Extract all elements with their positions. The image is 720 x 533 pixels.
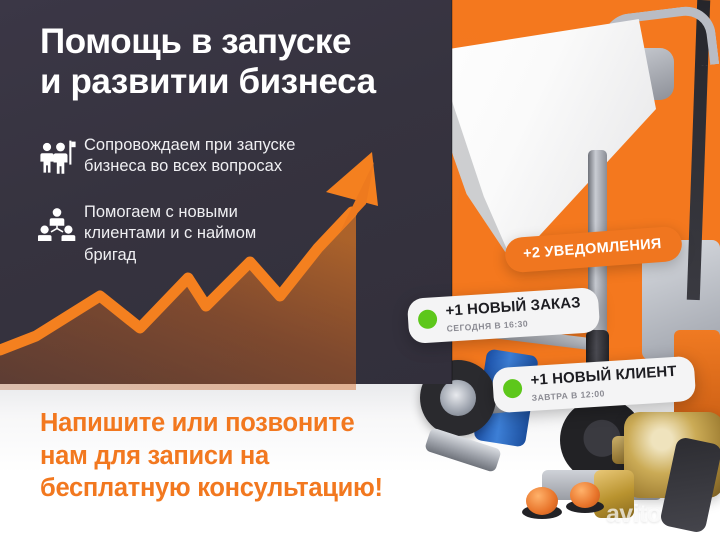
list-item: Помогаем с новыми клиентами и с наймом б…	[38, 202, 398, 266]
call-to-action-text: Напишите или позвоните нам для записи на…	[40, 407, 470, 505]
cta-line-1: Напишите или позвоните	[40, 407, 470, 440]
bullet-2-line-1: Помогаем с новыми	[84, 202, 256, 223]
bullet-2-line-3: бригад	[84, 245, 256, 266]
headline-line-1: Помощь в запуске	[40, 22, 440, 62]
machine-orange-cap-left	[526, 487, 558, 515]
bullet-2-line-2: клиентами и с наймом	[84, 223, 256, 244]
people-with-flag-icon	[38, 137, 84, 177]
avito-watermark: avito	[606, 500, 661, 529]
machine-orange-cap-right	[570, 482, 600, 508]
people-group-icon	[38, 204, 84, 244]
advertisement-banner: Помощь в запуске и развитии бизнеса Сопр…	[0, 0, 720, 533]
headline-line-2: и развитии бизнеса	[40, 62, 440, 102]
list-item-label: Сопровождаем при запуске бизнеса во всех…	[84, 135, 295, 178]
page-title: Помощь в запуске и развитии бизнеса	[40, 22, 440, 102]
bullet-1-line-2: бизнеса во всех вопросах	[84, 156, 295, 177]
cta-line-3: бесплатную консультацию!	[40, 472, 470, 505]
notifications-badge-label: +2 УВЕДОМЛЕНИЯ	[523, 236, 663, 262]
status-dot-icon	[503, 379, 523, 399]
cta-line-2: нам для записи на	[40, 440, 470, 473]
bullet-1-line-1: Сопровождаем при запуске	[84, 135, 295, 156]
list-item-label: Помогаем с новыми клиентами и с наймом б…	[84, 202, 256, 266]
status-dot-icon	[418, 309, 438, 329]
list-item: Сопровождаем при запуске бизнеса во всех…	[38, 135, 398, 178]
feature-list: Сопровождаем при запуске бизнеса во всех…	[38, 135, 398, 290]
